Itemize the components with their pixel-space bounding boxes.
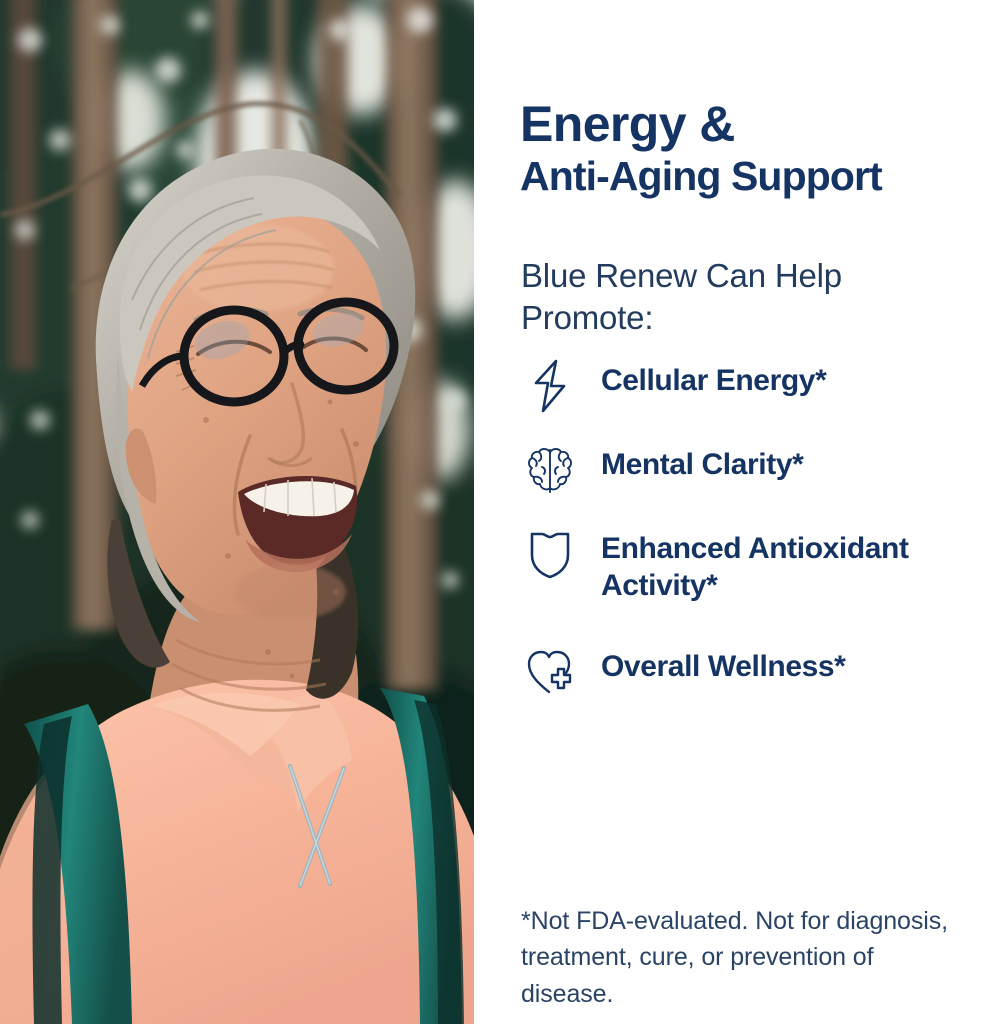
benefit-label: Overall Wellness* — [582, 641, 990, 686]
disclaimer-text: *Not FDA-evaluated. Not for diagnosis, t… — [521, 903, 951, 1012]
list-item: Overall Wellness* — [518, 641, 990, 703]
brain-icon — [518, 439, 582, 501]
benefit-label: Cellular Energy* — [582, 355, 990, 400]
headline-line-1: Energy & — [520, 96, 990, 153]
promo-graphic: Energy & Anti-Aging Support Blue Renew C… — [0, 0, 990, 1024]
photo-illustration — [0, 0, 474, 1024]
headline-line-2: Anti-Aging Support — [520, 153, 990, 200]
page-title: Energy & Anti-Aging Support — [520, 96, 990, 200]
list-item: Mental Clarity* — [518, 439, 990, 501]
hero-photo — [0, 0, 474, 1024]
list-item: Cellular Energy* — [518, 355, 990, 417]
shield-icon — [518, 523, 582, 589]
heart-plus-icon — [518, 641, 582, 703]
subheading: Blue Renew Can Help Promote: — [521, 255, 941, 339]
lightning-bolt-icon — [518, 355, 582, 417]
benefit-label: Enhanced Antioxidant Activity* — [582, 523, 990, 604]
content-panel: Energy & Anti-Aging Support Blue Renew C… — [474, 0, 990, 1024]
list-item: Enhanced Antioxidant Activity* — [518, 523, 990, 619]
benefit-label: Mental Clarity* — [582, 439, 990, 484]
benefit-list: Cellular Energy* — [518, 355, 990, 725]
